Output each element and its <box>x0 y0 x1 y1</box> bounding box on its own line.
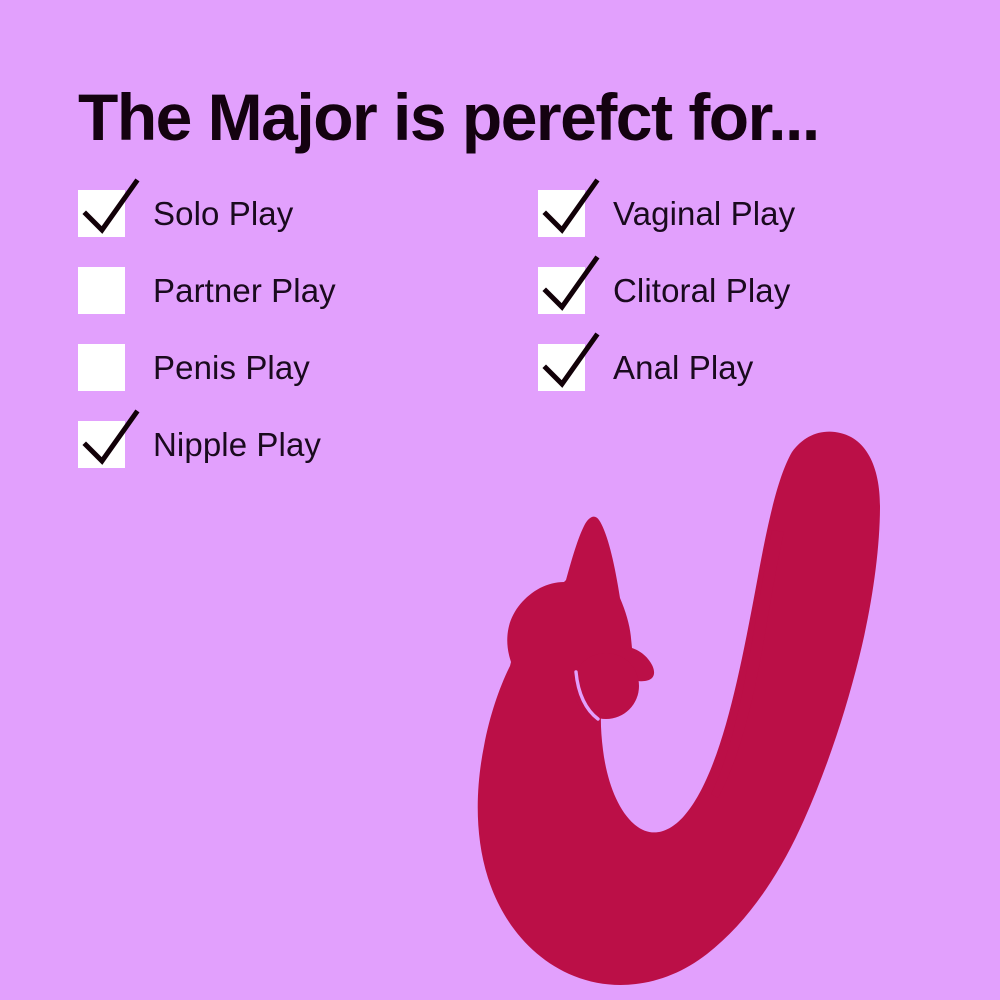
checklist-item-nipple-play[interactable]: Nipple Play <box>78 421 336 498</box>
product-button-sliver-lower <box>410 864 433 909</box>
checkbox-vaginal-play[interactable] <box>538 190 585 237</box>
product-illustration <box>380 410 920 1000</box>
page-title: The Major is perefct for... <box>78 78 938 156</box>
checklist-item-label: Nipple Play <box>153 421 321 468</box>
checklist-item-label: Vaginal Play <box>613 190 795 237</box>
checkmark-icon <box>534 174 606 246</box>
checklist-item-label: Clitoral Play <box>613 267 790 314</box>
checklist-item-clitoral-play[interactable]: Clitoral Play <box>538 267 795 344</box>
checkbox-penis-play[interactable] <box>78 344 125 391</box>
checklist-item-label: Partner Play <box>153 267 336 314</box>
checklist-item-label: Anal Play <box>613 344 753 391</box>
checkbox-partner-play[interactable] <box>78 267 125 314</box>
checkbox-nipple-play[interactable] <box>78 421 125 468</box>
product-accent-circle <box>573 653 639 719</box>
checklist-left-column: Solo Play Partner Play Penis Play <box>78 190 336 498</box>
checklist-item-label: Penis Play <box>153 344 310 391</box>
checklist-item-partner-play[interactable]: Partner Play <box>78 267 336 344</box>
checklist-item-penis-play[interactable]: Penis Play <box>78 344 336 421</box>
checkbox-solo-play[interactable] <box>78 190 125 237</box>
checkbox-clitoral-play[interactable] <box>538 267 585 314</box>
promo-graphic: The Major is perefct for... Solo Play Pa… <box>0 0 1000 1000</box>
checkmark-icon <box>74 174 146 246</box>
checklist-item-label: Solo Play <box>153 190 293 237</box>
checklist-item-solo-play[interactable]: Solo Play <box>78 190 336 267</box>
product-body-shape <box>478 432 880 985</box>
product-button-sliver-upper <box>401 785 423 826</box>
checkbox-anal-play[interactable] <box>538 344 585 391</box>
checklist-right-column: Vaginal Play Clitoral Play Anal Play <box>538 190 795 421</box>
product-base-seam-line <box>428 751 462 930</box>
checklist-item-vaginal-play[interactable]: Vaginal Play <box>538 190 795 267</box>
